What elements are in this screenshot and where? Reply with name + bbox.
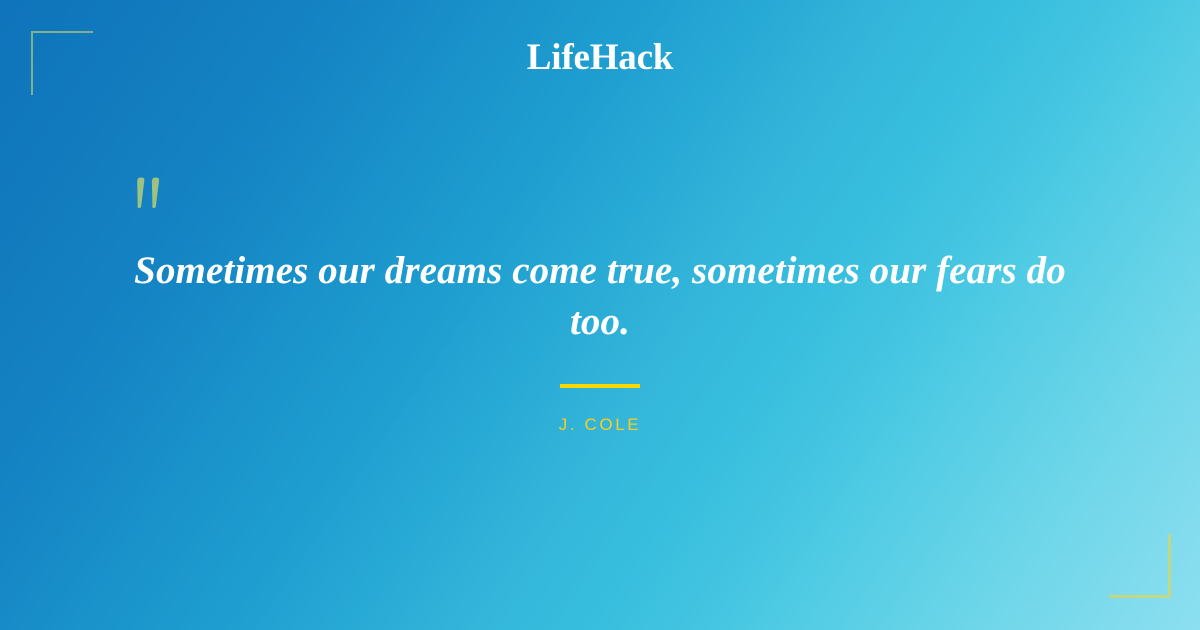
quote-author: J. COLE: [0, 415, 1200, 435]
quotation-mark-icon: [131, 173, 175, 217]
quote-divider: [560, 384, 640, 388]
quote-card: LifeHack Sometimes our dreams come true,…: [0, 0, 1200, 630]
quote-block: Sometimes our dreams come true, sometime…: [0, 0, 1200, 630]
quote-text: Sometimes our dreams come true, sometime…: [100, 245, 1100, 347]
